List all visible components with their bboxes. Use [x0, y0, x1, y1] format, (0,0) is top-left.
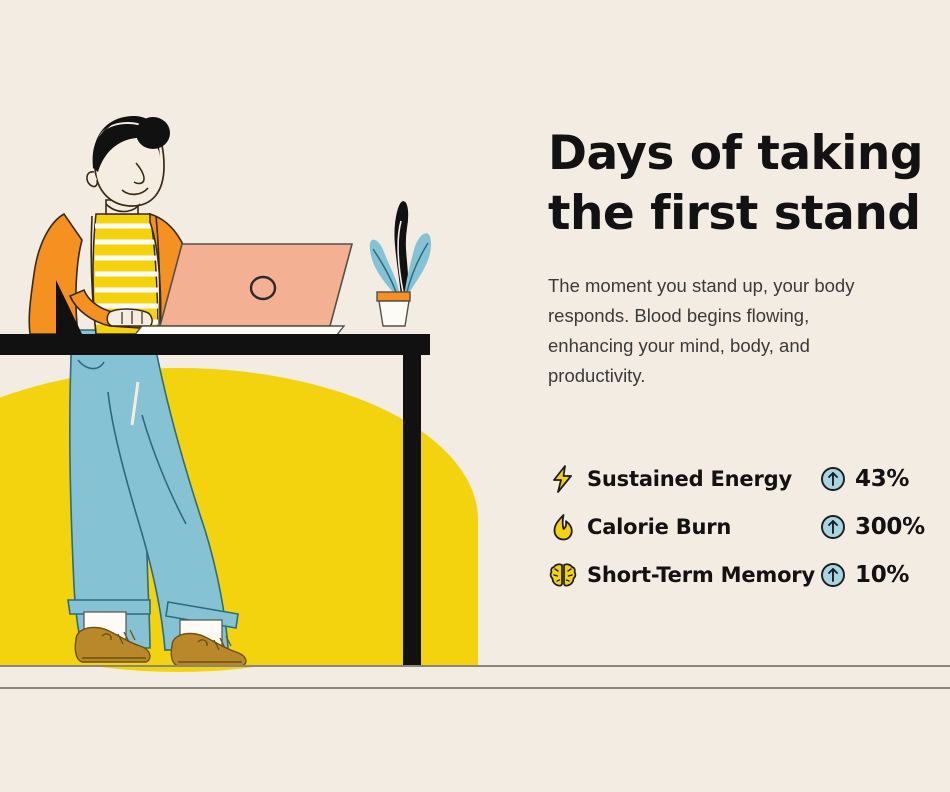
page-title-line-2: the first stand	[548, 184, 928, 244]
stat-value: 300%	[855, 514, 925, 540]
potted-plant	[370, 202, 431, 326]
arrow-up-icon	[820, 466, 846, 492]
illustration	[0, 0, 520, 700]
stat-label: Sustained Energy	[587, 467, 820, 491]
stat-row: Short-Term Memory 10%	[548, 551, 930, 599]
stat-label: Calorie Burn	[587, 515, 820, 539]
stat-row: Calorie Burn 300%	[548, 503, 930, 551]
page-title-line-1: Days of taking	[548, 124, 928, 184]
ground-line-lower	[0, 687, 950, 689]
flame-icon	[548, 512, 578, 542]
stats-list: Sustained Energy 43% Calorie Burn	[548, 455, 930, 599]
body-paragraph: The moment you stand up, your body respo…	[548, 271, 858, 391]
stat-trend: 300%	[820, 514, 930, 540]
arrow-up-icon	[820, 514, 846, 540]
poster-canvas: Days of taking the first stand The momen…	[0, 0, 950, 792]
stat-label: Short-Term Memory	[587, 563, 820, 587]
stat-value: 43%	[855, 466, 909, 492]
lightning-bolt-icon	[548, 464, 578, 494]
stat-value: 10%	[855, 562, 909, 588]
stat-row: Sustained Energy 43%	[548, 455, 930, 503]
illustration-svg	[0, 0, 520, 700]
brain-icon	[548, 560, 578, 590]
person-head	[87, 116, 170, 214]
arrow-up-icon	[820, 562, 846, 588]
stat-trend: 10%	[820, 562, 930, 588]
text-content: Days of taking the first stand The momen…	[548, 124, 928, 391]
page-title: Days of taking the first stand	[548, 124, 928, 243]
stat-trend: 43%	[820, 466, 930, 492]
ground-line-upper	[0, 665, 950, 667]
